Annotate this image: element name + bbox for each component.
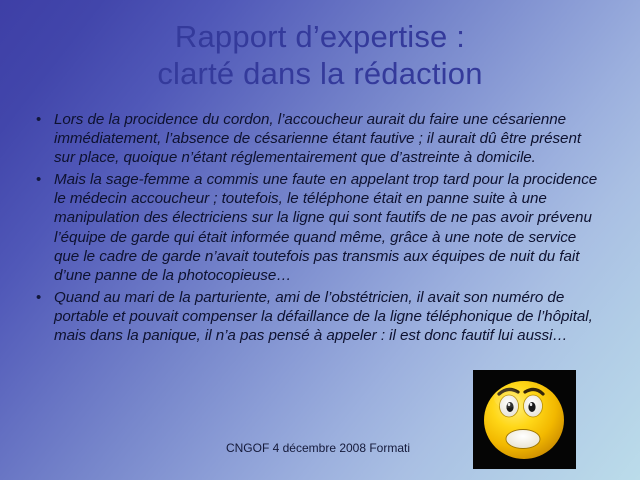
smiley-face-image [473, 370, 576, 469]
presentation-slide: Rapport d’expertise : clarté dans la réd… [0, 0, 640, 480]
slide-body-list: • Lors de la procidence du cordon, l’acc… [28, 110, 620, 348]
worried-smiley-icon [473, 370, 576, 469]
bullet-text: Lors de la procidence du cordon, l’accou… [54, 110, 599, 167]
bullet-marker-icon: • [28, 170, 54, 189]
bullet-item: • Mais la sage-femme a commis une faute … [28, 170, 620, 285]
slide-title: Rapport d’expertise : clarté dans la réd… [0, 18, 640, 92]
bullet-marker-icon: • [28, 288, 54, 307]
slide-title-line-2: clarté dans la rédaction [0, 55, 640, 92]
bullet-text: Mais la sage-femme a commis une faute en… [54, 170, 599, 285]
bullet-item: • Quand au mari de la parturiente, ami d… [28, 288, 620, 345]
bullet-text: Quand au mari de la parturiente, ami de … [54, 288, 599, 345]
bullet-item: • Lors de la procidence du cordon, l’acc… [28, 110, 620, 167]
slide-title-line-1: Rapport d’expertise : [0, 18, 640, 55]
bullet-marker-icon: • [28, 110, 54, 129]
